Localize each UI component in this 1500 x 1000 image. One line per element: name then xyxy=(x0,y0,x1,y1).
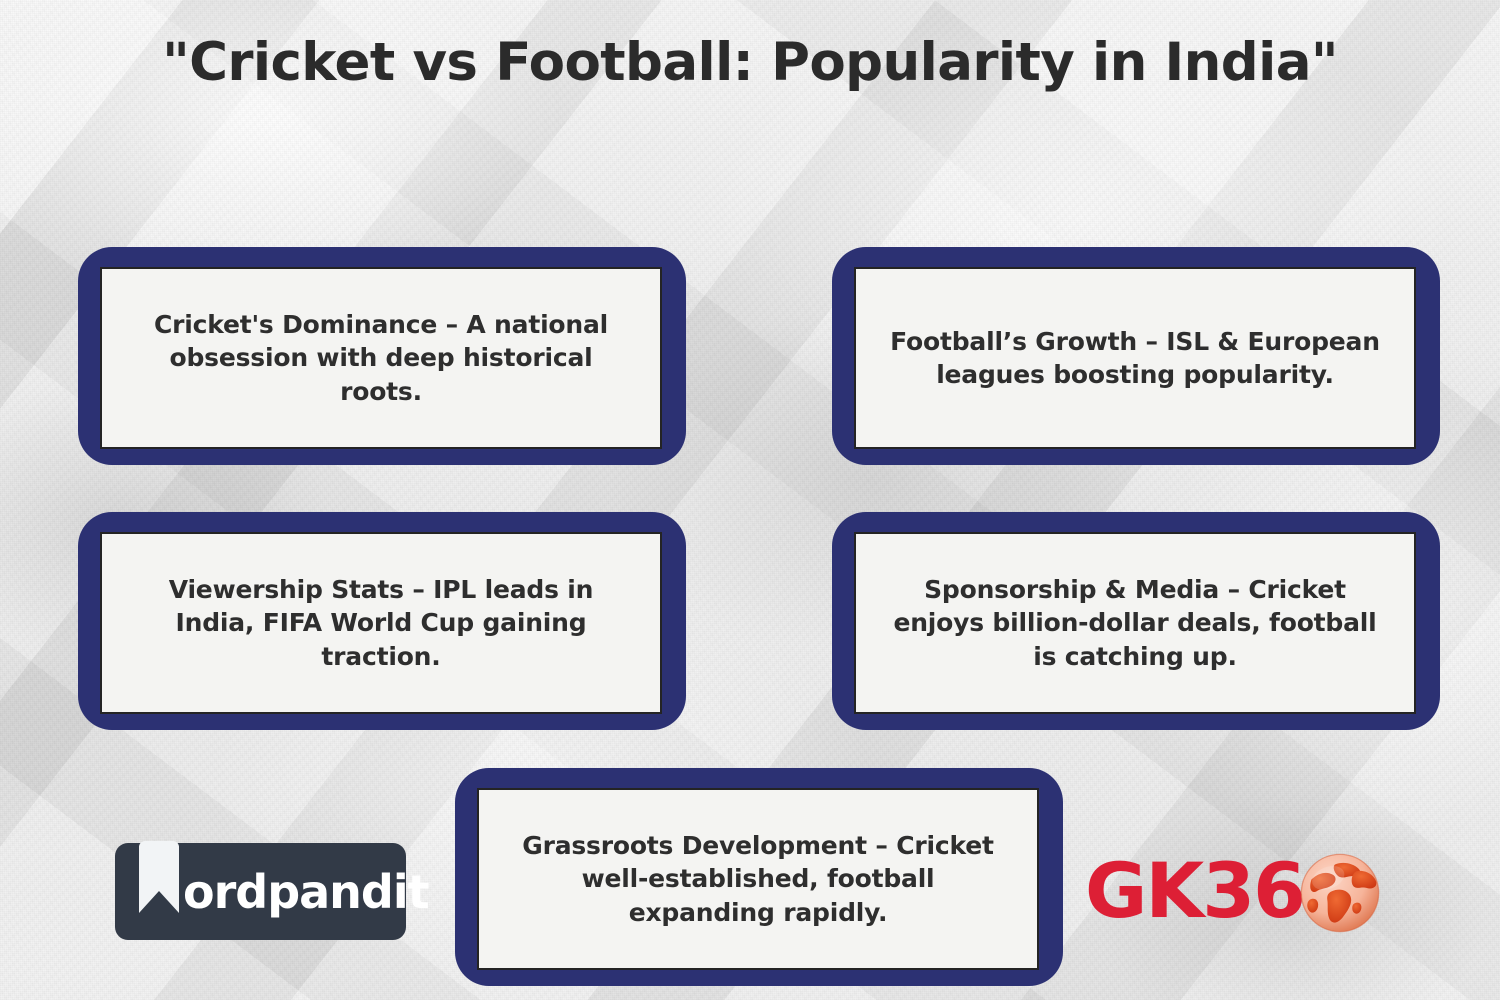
card-text: Cricket's Dominance – A national obsessi… xyxy=(128,308,634,408)
info-card-sponsorship-media[interactable]: Sponsorship & Media – Cricket enjoys bil… xyxy=(832,512,1440,734)
info-card-football-growth[interactable]: Football’s Growth – ISL & European leagu… xyxy=(832,247,1440,469)
gk360-logo[interactable]: GK36 xyxy=(1085,845,1410,937)
wordpandit-logo[interactable]: ordpandit xyxy=(115,843,406,940)
card-face: Sponsorship & Media – Cricket enjoys bil… xyxy=(854,532,1416,714)
card-text: Viewership Stats – IPL leads in India, F… xyxy=(128,573,634,673)
info-card-cricket-dominance[interactable]: Cricket's Dominance – A national obsessi… xyxy=(78,247,686,469)
info-card-viewership-stats[interactable]: Viewership Stats – IPL leads in India, F… xyxy=(78,512,686,734)
globe-icon xyxy=(1298,851,1382,935)
card-face: Cricket's Dominance – A national obsessi… xyxy=(100,267,662,449)
bookmark-icon xyxy=(135,841,183,913)
gk360-wordmark: GK36 xyxy=(1085,853,1304,929)
page-title: "Cricket vs Football: Popularity in Indi… xyxy=(0,32,1500,93)
info-card-grassroots-development[interactable]: Grassroots Development – Cricket well-es… xyxy=(455,768,1063,990)
card-text: Grassroots Development – Cricket well-es… xyxy=(505,829,1011,929)
card-text: Sponsorship & Media – Cricket enjoys bil… xyxy=(882,573,1388,673)
card-text: Football’s Growth – ISL & European leagu… xyxy=(882,325,1388,392)
card-face: Viewership Stats – IPL leads in India, F… xyxy=(100,532,662,714)
card-face: Grassroots Development – Cricket well-es… xyxy=(477,788,1039,970)
wordpandit-wordmark: ordpandit xyxy=(183,865,429,919)
card-face: Football’s Growth – ISL & European leagu… xyxy=(854,267,1416,449)
